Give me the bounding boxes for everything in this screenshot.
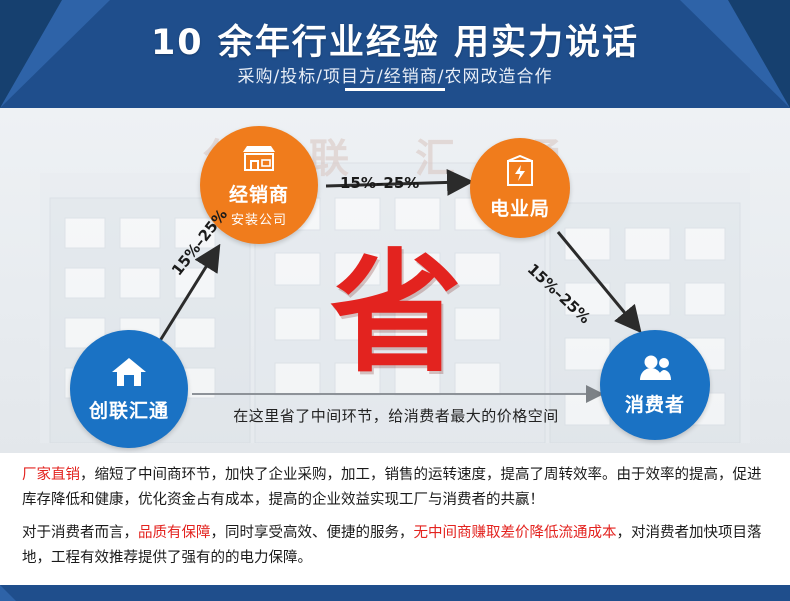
paragraph-1-part-0: 厂家直销 bbox=[22, 467, 80, 483]
header-banner: 10 余年行业经验 用实力说话 采购/投标/项目方/经销商/农网改造合作 bbox=[0, 0, 790, 108]
promo-banner: 10 余年行业经验 用实力说话 采购/投标/项目方/经销商/农网改造合作 bbox=[0, 0, 790, 601]
diagram-caption: 在这里省了中间环节，给消费者最大的价格空间 bbox=[196, 405, 596, 426]
paragraph-1-part-1: ，缩短了中间商环节，加快了企业采购，加工，销售的运转速度，提高了周转效率。由于效… bbox=[22, 467, 762, 508]
person-icon bbox=[636, 353, 674, 387]
header-title: 10 余年行业经验 用实力说话 bbox=[0, 14, 790, 65]
footer-accent-left bbox=[0, 585, 16, 601]
node-brand[interactable]: 创联汇通 bbox=[70, 330, 188, 448]
flow-diagram: 创 联 汇 通 省 bbox=[0, 108, 790, 453]
header-subtitle: 采购/投标/项目方/经销商/农网改造合作 bbox=[0, 62, 790, 87]
node-brand-title: 创联汇通 bbox=[89, 396, 169, 423]
paragraph-2: 对于消费者而言，品质有保障，同时享受高效、便捷的服务，无中间商赚取差价降低流通成… bbox=[22, 521, 770, 571]
paragraph-2-part-2: ，同时享受高效、便捷的服务， bbox=[211, 525, 414, 541]
node-consumer[interactable]: 消费者 bbox=[600, 330, 710, 440]
node-dealer-title: 经销商 bbox=[229, 180, 289, 207]
home-icon bbox=[109, 355, 149, 393]
paragraph-2-part-3: 无中间商赚取差价降低流通成本 bbox=[414, 525, 617, 541]
power-building-icon bbox=[503, 155, 537, 191]
shop-icon bbox=[239, 143, 279, 177]
arrow-label-top: 15%–25% bbox=[340, 174, 419, 192]
header-underline bbox=[345, 88, 445, 91]
paragraph-1: 厂家直销，缩短了中间商环节，加快了企业采购，加工，销售的运转速度，提高了周转效率… bbox=[22, 463, 770, 513]
node-power-bureau[interactable]: 电业局 bbox=[470, 138, 570, 238]
center-highlight-char: 省 bbox=[330, 248, 462, 380]
paragraph-2-part-0: 对于消费者而言， bbox=[22, 525, 138, 541]
footer-stripe bbox=[0, 585, 790, 601]
node-consumer-title: 消费者 bbox=[625, 390, 685, 417]
node-power-bureau-title: 电业局 bbox=[490, 194, 550, 221]
description-block: 厂家直销，缩短了中间商环节，加快了企业采购，加工，销售的运转速度，提高了周转效率… bbox=[0, 453, 790, 601]
node-dealer-subtitle: 安装公司 bbox=[231, 209, 287, 228]
paragraph-2-part-1: 品质有保障 bbox=[138, 525, 211, 541]
